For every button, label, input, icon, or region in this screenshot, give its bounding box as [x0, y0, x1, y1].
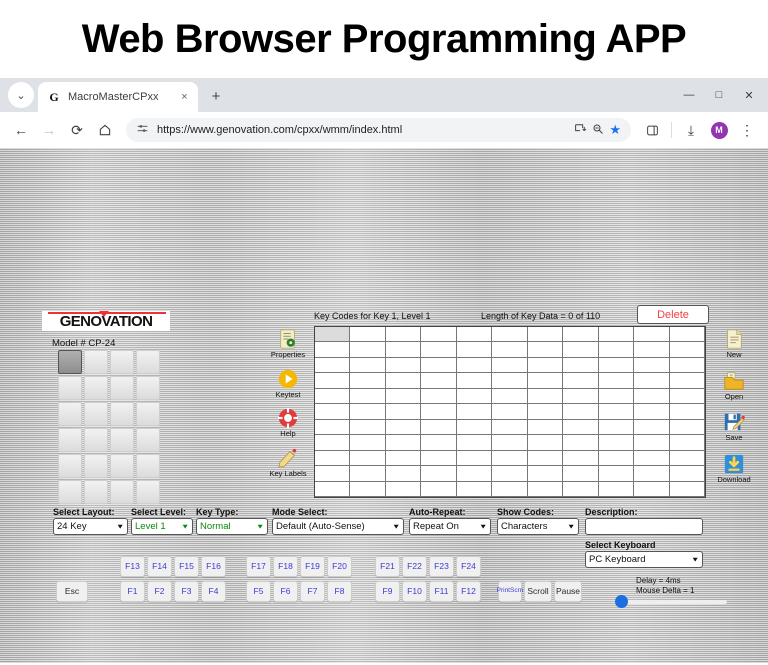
- keycode-cell[interactable]: [315, 373, 350, 388]
- keycode-cell[interactable]: [457, 358, 492, 373]
- new-tab-icon[interactable]: +: [204, 84, 228, 108]
- key-f23[interactable]: F23: [429, 556, 454, 577]
- keycode-cell[interactable]: [350, 327, 385, 342]
- keycode-cell[interactable]: [528, 420, 563, 435]
- device-key-1[interactable]: [58, 350, 82, 374]
- open-folder-label: Open: [725, 393, 743, 401]
- keycode-cell[interactable]: [315, 451, 350, 466]
- keycode-cell[interactable]: [457, 327, 492, 342]
- minimize-icon[interactable]: —: [674, 82, 704, 108]
- device-key-7[interactable]: [110, 376, 134, 400]
- show-codes-label: Show Codes:: [497, 507, 579, 517]
- key-labels-label: Key Labels: [269, 470, 306, 478]
- mode-select-field: Mode Select: Default (Auto-Sense): [272, 507, 404, 535]
- keycode-cell[interactable]: [599, 342, 634, 357]
- keycode-cell[interactable]: [421, 482, 456, 497]
- keycode-cell[interactable]: [528, 482, 563, 497]
- keycode-cell[interactable]: [386, 466, 421, 481]
- auto-repeat-field: Auto-Repeat: Repeat On: [409, 507, 491, 535]
- keycode-cell[interactable]: [563, 389, 598, 404]
- keycode-cell[interactable]: [599, 327, 634, 342]
- device-key-18[interactable]: [84, 454, 108, 478]
- select-layout-field: Select Layout: 24 Key: [53, 507, 128, 535]
- keycode-cell[interactable]: [492, 451, 527, 466]
- address-bar[interactable]: https://www.genovation.com/cpxx/wmm/inde…: [126, 118, 631, 142]
- keycode-cell[interactable]: [634, 342, 669, 357]
- description-label: Description:: [585, 507, 703, 517]
- keycode-cell[interactable]: [492, 327, 527, 342]
- right-tool-column: NewOpenSaveDownload: [714, 328, 754, 483]
- description-field: Description:: [585, 507, 703, 535]
- key-f8[interactable]: F8: [327, 581, 352, 602]
- keycode-cell[interactable]: [599, 404, 634, 419]
- key-f19[interactable]: F19: [300, 556, 325, 577]
- genovation-app: GENOVATION Model # CP-24 PropertiesKeyte…: [0, 148, 768, 663]
- keycode-cell[interactable]: [563, 404, 598, 419]
- device-key-16[interactable]: [136, 428, 160, 452]
- key-labels-tool[interactable]: Key Labels: [268, 447, 308, 478]
- keycode-cell[interactable]: [563, 466, 598, 481]
- keycode-cell[interactable]: [350, 389, 385, 404]
- keycode-cell[interactable]: [670, 466, 705, 481]
- keycode-cell[interactable]: [634, 389, 669, 404]
- delay-info-line2: Mouse Delta = 1: [636, 586, 694, 596]
- device-key-17[interactable]: [58, 454, 82, 478]
- download-tool[interactable]: Download: [714, 453, 754, 484]
- browser-toolbar: ← → ⟳ https://www.genovation.com/cpxx/wm…: [0, 112, 768, 148]
- device-key-22[interactable]: [84, 480, 108, 504]
- keycode-cell[interactable]: [563, 327, 598, 342]
- keytest-tool[interactable]: Keytest: [268, 368, 308, 399]
- key-f17[interactable]: F17: [246, 556, 271, 577]
- key-f20[interactable]: F20: [327, 556, 352, 577]
- keycode-cell[interactable]: [492, 404, 527, 419]
- keycode-cell[interactable]: [421, 358, 456, 373]
- key-labels-icon: [277, 447, 299, 469]
- keycode-cell[interactable]: [528, 389, 563, 404]
- show-codes-dropdown[interactable]: Characters: [497, 518, 579, 535]
- key-scroll[interactable]: Scroll: [524, 581, 552, 602]
- select-keyboard-field: Select Keyboard PC Keyboard: [585, 540, 703, 568]
- help-label: Help: [280, 430, 295, 438]
- keycode-cell[interactable]: [563, 451, 598, 466]
- keycodes-length: Length of Key Data = 0 of 110: [481, 311, 600, 321]
- keycode-cell[interactable]: [457, 466, 492, 481]
- home-icon[interactable]: [92, 117, 118, 143]
- keycode-cell[interactable]: [350, 466, 385, 481]
- window-controls: — □ ✕: [674, 82, 764, 108]
- key-f16[interactable]: F16: [201, 556, 226, 577]
- delay-info: Delay = 4ms Mouse Delta = 1: [636, 576, 694, 596]
- keycode-cell[interactable]: [421, 420, 456, 435]
- open-folder-icon: [723, 370, 745, 392]
- keycode-cell[interactable]: [386, 435, 421, 450]
- site-settings-icon[interactable]: [136, 122, 149, 138]
- keycode-cell[interactable]: [670, 327, 705, 342]
- key-f15[interactable]: F15: [174, 556, 199, 577]
- keycode-cell[interactable]: [599, 482, 634, 497]
- device-key-10[interactable]: [84, 402, 108, 426]
- keycode-cell[interactable]: [386, 482, 421, 497]
- keycode-cell[interactable]: [528, 373, 563, 388]
- keycode-cell[interactable]: [670, 389, 705, 404]
- tab-title: MacroMasterCPxx: [68, 91, 170, 103]
- key-type-dropdown[interactable]: Normal: [196, 518, 268, 535]
- keycode-cell[interactable]: [599, 435, 634, 450]
- show-codes-field: Show Codes: Characters: [497, 507, 579, 535]
- save-tool[interactable]: Save: [714, 411, 754, 442]
- keycode-cell[interactable]: [670, 404, 705, 419]
- omnibox-actions: ★: [574, 122, 621, 138]
- mode-select-dropdown[interactable]: Default (Auto-Sense): [272, 518, 404, 535]
- select-layout-label: Select Layout:: [53, 507, 128, 517]
- keycode-cell[interactable]: [670, 358, 705, 373]
- keycode-cell[interactable]: [421, 389, 456, 404]
- properties-label: Properties: [271, 351, 305, 359]
- key-f12[interactable]: F12: [456, 581, 481, 602]
- key-f3[interactable]: F3: [174, 581, 199, 602]
- keycode-cell[interactable]: [386, 451, 421, 466]
- keycode-cell[interactable]: [528, 451, 563, 466]
- new-file-label: New: [726, 351, 741, 359]
- device-key-21[interactable]: [58, 480, 82, 504]
- reload-icon[interactable]: ⟳: [64, 117, 90, 143]
- properties-icon: [277, 328, 299, 350]
- browser-window: ⌄ G MacroMasterCPxx × + — □ ✕ ← → ⟳: [0, 78, 768, 148]
- select-level-dropdown[interactable]: Level 1: [131, 518, 193, 535]
- keycode-cell[interactable]: [599, 451, 634, 466]
- keycode-cell[interactable]: [670, 342, 705, 357]
- key-type-field: Key Type: Normal: [196, 507, 268, 535]
- device-key-6[interactable]: [84, 376, 108, 400]
- key-f13[interactable]: F13: [120, 556, 145, 577]
- keycode-cell[interactable]: [457, 420, 492, 435]
- keycode-cell[interactable]: [492, 420, 527, 435]
- delete-button[interactable]: Delete: [637, 305, 709, 324]
- key-pause[interactable]: Pause: [554, 581, 582, 602]
- url-text: https://www.genovation.com/cpxx/wmm/inde…: [157, 124, 402, 136]
- device-key-5[interactable]: [58, 376, 82, 400]
- keycode-cell[interactable]: [386, 373, 421, 388]
- device-key-11[interactable]: [110, 402, 134, 426]
- keycodes-title: Key Codes for Key 1, Level 1: [314, 311, 431, 321]
- keycode-cell[interactable]: [670, 482, 705, 497]
- key-esc[interactable]: Esc: [56, 581, 88, 602]
- keycode-cell[interactable]: [457, 451, 492, 466]
- keycode-cell[interactable]: [599, 358, 634, 373]
- mode-select-label: Mode Select:: [272, 507, 404, 517]
- device-key-4[interactable]: [136, 350, 160, 374]
- keycode-cell[interactable]: [457, 404, 492, 419]
- tab-favicon-icon: G: [47, 90, 61, 104]
- downloads-icon[interactable]: ⤓: [678, 117, 704, 143]
- key-f2[interactable]: F2: [147, 581, 172, 602]
- keycode-cell[interactable]: [350, 451, 385, 466]
- keycode-cell[interactable]: [492, 389, 527, 404]
- keycode-cell[interactable]: [315, 358, 350, 373]
- browser-tab[interactable]: G MacroMasterCPxx ×: [38, 82, 198, 112]
- select-layout-dropdown[interactable]: 24 Key: [53, 518, 128, 535]
- tab-strip: ⌄ G MacroMasterCPxx × + — □ ✕: [0, 78, 768, 112]
- keycode-cell[interactable]: [599, 420, 634, 435]
- keycode-cell[interactable]: [457, 482, 492, 497]
- key-f11[interactable]: F11: [429, 581, 454, 602]
- keycode-cell[interactable]: [315, 342, 350, 357]
- keycode-cell[interactable]: [528, 358, 563, 373]
- close-window-icon[interactable]: ✕: [734, 82, 764, 108]
- description-input[interactable]: [585, 518, 703, 535]
- keycode-cell[interactable]: [563, 435, 598, 450]
- browser-menu-icon[interactable]: ⋮: [734, 117, 760, 143]
- keycode-cell[interactable]: [492, 342, 527, 357]
- keycode-cell[interactable]: [492, 358, 527, 373]
- keycode-cell[interactable]: [670, 451, 705, 466]
- keycode-cell[interactable]: [350, 420, 385, 435]
- keycode-cell[interactable]: [563, 342, 598, 357]
- key-f7[interactable]: F7: [300, 581, 325, 602]
- auto-repeat-dropdown[interactable]: Repeat On: [409, 518, 491, 535]
- keycode-cell[interactable]: [634, 451, 669, 466]
- keycode-cell[interactable]: [386, 420, 421, 435]
- key-print-scrn[interactable]: PrintScrn: [498, 581, 522, 602]
- keycode-cell[interactable]: [421, 404, 456, 419]
- keycode-cell[interactable]: [421, 466, 456, 481]
- auto-repeat-label: Auto-Repeat:: [409, 507, 491, 517]
- key-f14[interactable]: F14: [147, 556, 172, 577]
- key-f4[interactable]: F4: [201, 581, 226, 602]
- keycode-cell[interactable]: [634, 373, 669, 388]
- side-panel-icon[interactable]: [639, 117, 665, 143]
- key-type-label: Key Type:: [196, 507, 268, 517]
- keycode-cell[interactable]: [528, 342, 563, 357]
- close-tab-icon[interactable]: ×: [177, 90, 192, 105]
- keycode-cell[interactable]: [315, 404, 350, 419]
- keycode-cell[interactable]: [457, 373, 492, 388]
- keycode-cell[interactable]: [315, 435, 350, 450]
- keycode-cell[interactable]: [563, 420, 598, 435]
- key-f24[interactable]: F24: [456, 556, 481, 577]
- keycode-cell[interactable]: [457, 389, 492, 404]
- key-f6[interactable]: F6: [273, 581, 298, 602]
- keycode-cell[interactable]: [315, 420, 350, 435]
- delay-slider-track[interactable]: [617, 600, 727, 604]
- key-f5[interactable]: F5: [246, 581, 271, 602]
- keycode-cell[interactable]: [599, 466, 634, 481]
- device-key-20[interactable]: [136, 454, 160, 478]
- page-title: Web Browser Programming APP: [0, 0, 768, 78]
- keycode-cell[interactable]: [350, 404, 385, 419]
- keycode-cell[interactable]: [386, 404, 421, 419]
- install-app-icon[interactable]: [574, 122, 587, 138]
- keycode-cell[interactable]: [386, 358, 421, 373]
- device-key-19[interactable]: [110, 454, 134, 478]
- download-icon: [723, 453, 745, 475]
- delay-info-line1: Delay = 4ms: [636, 576, 694, 586]
- key-f18[interactable]: F18: [273, 556, 298, 577]
- new-file-icon: [723, 328, 745, 350]
- keycode-cell[interactable]: [315, 327, 350, 342]
- keycode-cell[interactable]: [386, 342, 421, 357]
- keycode-cell[interactable]: [492, 373, 527, 388]
- toolbar-divider: [671, 122, 672, 138]
- keycode-cell[interactable]: [528, 327, 563, 342]
- new-file-tool[interactable]: New: [714, 328, 754, 359]
- keycode-cell[interactable]: [421, 373, 456, 388]
- keycode-cell[interactable]: [350, 342, 385, 357]
- device-keypad: [58, 350, 160, 504]
- device-key-23[interactable]: [110, 480, 134, 504]
- keycode-cell[interactable]: [634, 358, 669, 373]
- keycode-cell[interactable]: [634, 404, 669, 419]
- avatar[interactable]: M: [706, 117, 732, 143]
- device-key-15[interactable]: [110, 428, 134, 452]
- back-icon[interactable]: ←: [8, 117, 34, 143]
- profile-initial: M: [711, 122, 728, 139]
- tab-search-icon[interactable]: ⌄: [8, 82, 34, 108]
- model-label: Model # CP-24: [52, 338, 115, 349]
- keycode-cell[interactable]: [492, 466, 527, 481]
- select-level-label: Select Level:: [131, 507, 193, 517]
- device-key-9[interactable]: [58, 402, 82, 426]
- keycode-cell[interactable]: [421, 451, 456, 466]
- keycode-cell[interactable]: [492, 482, 527, 497]
- keycode-cell[interactable]: [386, 327, 421, 342]
- keycode-cell[interactable]: [634, 327, 669, 342]
- keycode-cell[interactable]: [528, 404, 563, 419]
- maximize-icon[interactable]: □: [704, 82, 734, 108]
- keycode-cell[interactable]: [350, 482, 385, 497]
- keycode-cell[interactable]: [670, 420, 705, 435]
- keycode-cell[interactable]: [634, 482, 669, 497]
- keycode-cell[interactable]: [315, 482, 350, 497]
- device-key-13[interactable]: [58, 428, 82, 452]
- select-keyboard-label: Select Keyboard: [585, 540, 703, 550]
- keycode-cell[interactable]: [350, 358, 385, 373]
- keycode-cell[interactable]: [634, 466, 669, 481]
- save-icon: [723, 411, 745, 433]
- keycode-cell[interactable]: [350, 435, 385, 450]
- open-folder-tool[interactable]: Open: [714, 370, 754, 401]
- device-key-14[interactable]: [84, 428, 108, 452]
- properties-tool[interactable]: Properties: [268, 328, 308, 359]
- key-f9[interactable]: F9: [375, 581, 400, 602]
- keycode-cell[interactable]: [634, 435, 669, 450]
- select-level-field: Select Level: Level 1: [131, 507, 193, 535]
- download-label: Download: [717, 476, 750, 484]
- key-f22[interactable]: F22: [402, 556, 427, 577]
- delay-slider-knob[interactable]: [615, 595, 628, 608]
- keycode-cell[interactable]: [563, 373, 598, 388]
- keycode-cell[interactable]: [421, 342, 456, 357]
- keycode-cell[interactable]: [457, 435, 492, 450]
- keycode-cell[interactable]: [492, 435, 527, 450]
- keycode-cell[interactable]: [599, 373, 634, 388]
- keycode-cell[interactable]: [350, 373, 385, 388]
- key-f21[interactable]: F21: [375, 556, 400, 577]
- save-label: Save: [725, 434, 742, 442]
- bookmark-star-icon[interactable]: ★: [609, 122, 621, 138]
- key-f1[interactable]: F1: [120, 581, 145, 602]
- device-key-2[interactable]: [84, 350, 108, 374]
- keycode-cell[interactable]: [528, 435, 563, 450]
- device-key-3[interactable]: [110, 350, 134, 374]
- keycode-cell[interactable]: [528, 466, 563, 481]
- key-f10[interactable]: F10: [402, 581, 427, 602]
- keycode-cell[interactable]: [599, 389, 634, 404]
- keycode-cell[interactable]: [563, 358, 598, 373]
- keycodes-grid[interactable]: [314, 326, 706, 498]
- keycode-cell[interactable]: [315, 389, 350, 404]
- keytest-label: Keytest: [275, 391, 300, 399]
- left-tool-column: PropertiesKeytestHelpKey Labels: [270, 328, 306, 477]
- forward-icon[interactable]: →: [36, 117, 62, 143]
- keycode-cell[interactable]: [386, 389, 421, 404]
- keycode-cell[interactable]: [563, 482, 598, 497]
- keycode-cell[interactable]: [670, 435, 705, 450]
- device-key-12[interactable]: [136, 402, 160, 426]
- keycode-cell[interactable]: [421, 435, 456, 450]
- device-key-8[interactable]: [136, 376, 160, 400]
- keytest-icon: [277, 368, 299, 390]
- keycode-cell[interactable]: [457, 342, 492, 357]
- zoom-icon[interactable]: [592, 123, 604, 138]
- keycode-cell[interactable]: [634, 420, 669, 435]
- help-tool[interactable]: Help: [268, 407, 308, 438]
- keycode-cell[interactable]: [315, 466, 350, 481]
- device-key-24[interactable]: [136, 480, 160, 504]
- keycode-cell[interactable]: [670, 373, 705, 388]
- logo-triangle-icon: [99, 311, 109, 317]
- select-keyboard-dropdown[interactable]: PC Keyboard: [585, 551, 703, 568]
- help-icon: [277, 407, 299, 429]
- keycode-cell[interactable]: [421, 327, 456, 342]
